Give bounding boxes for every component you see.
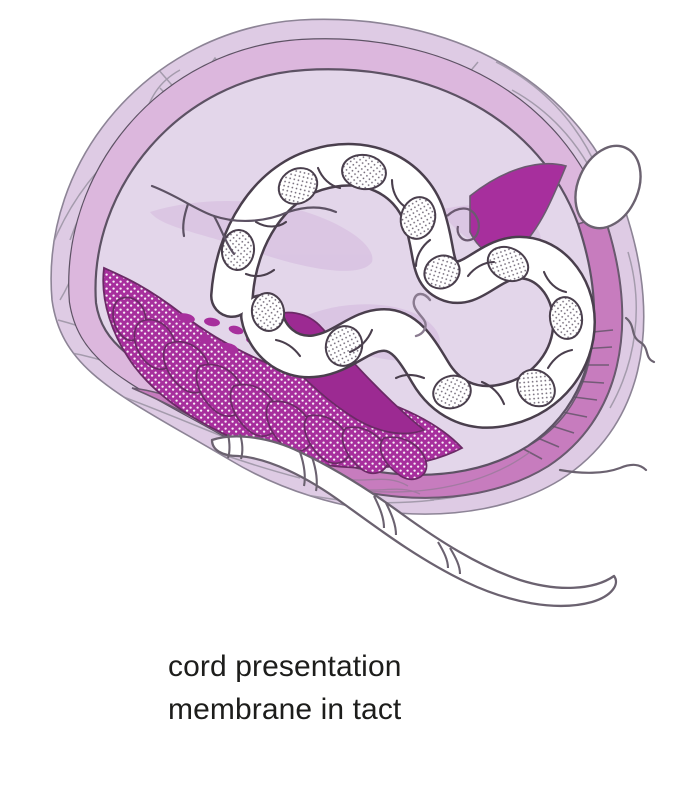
- caption-line-2: membrane in tact: [168, 688, 691, 731]
- figure-cord-presentation: cord presentation membrane in tact: [0, 0, 691, 791]
- anatomical-illustration: [0, 0, 691, 640]
- figure-caption: cord presentation membrane in tact: [0, 645, 691, 731]
- caption-line-1: cord presentation: [168, 645, 691, 688]
- uterus-cross-section-svg: [0, 0, 691, 640]
